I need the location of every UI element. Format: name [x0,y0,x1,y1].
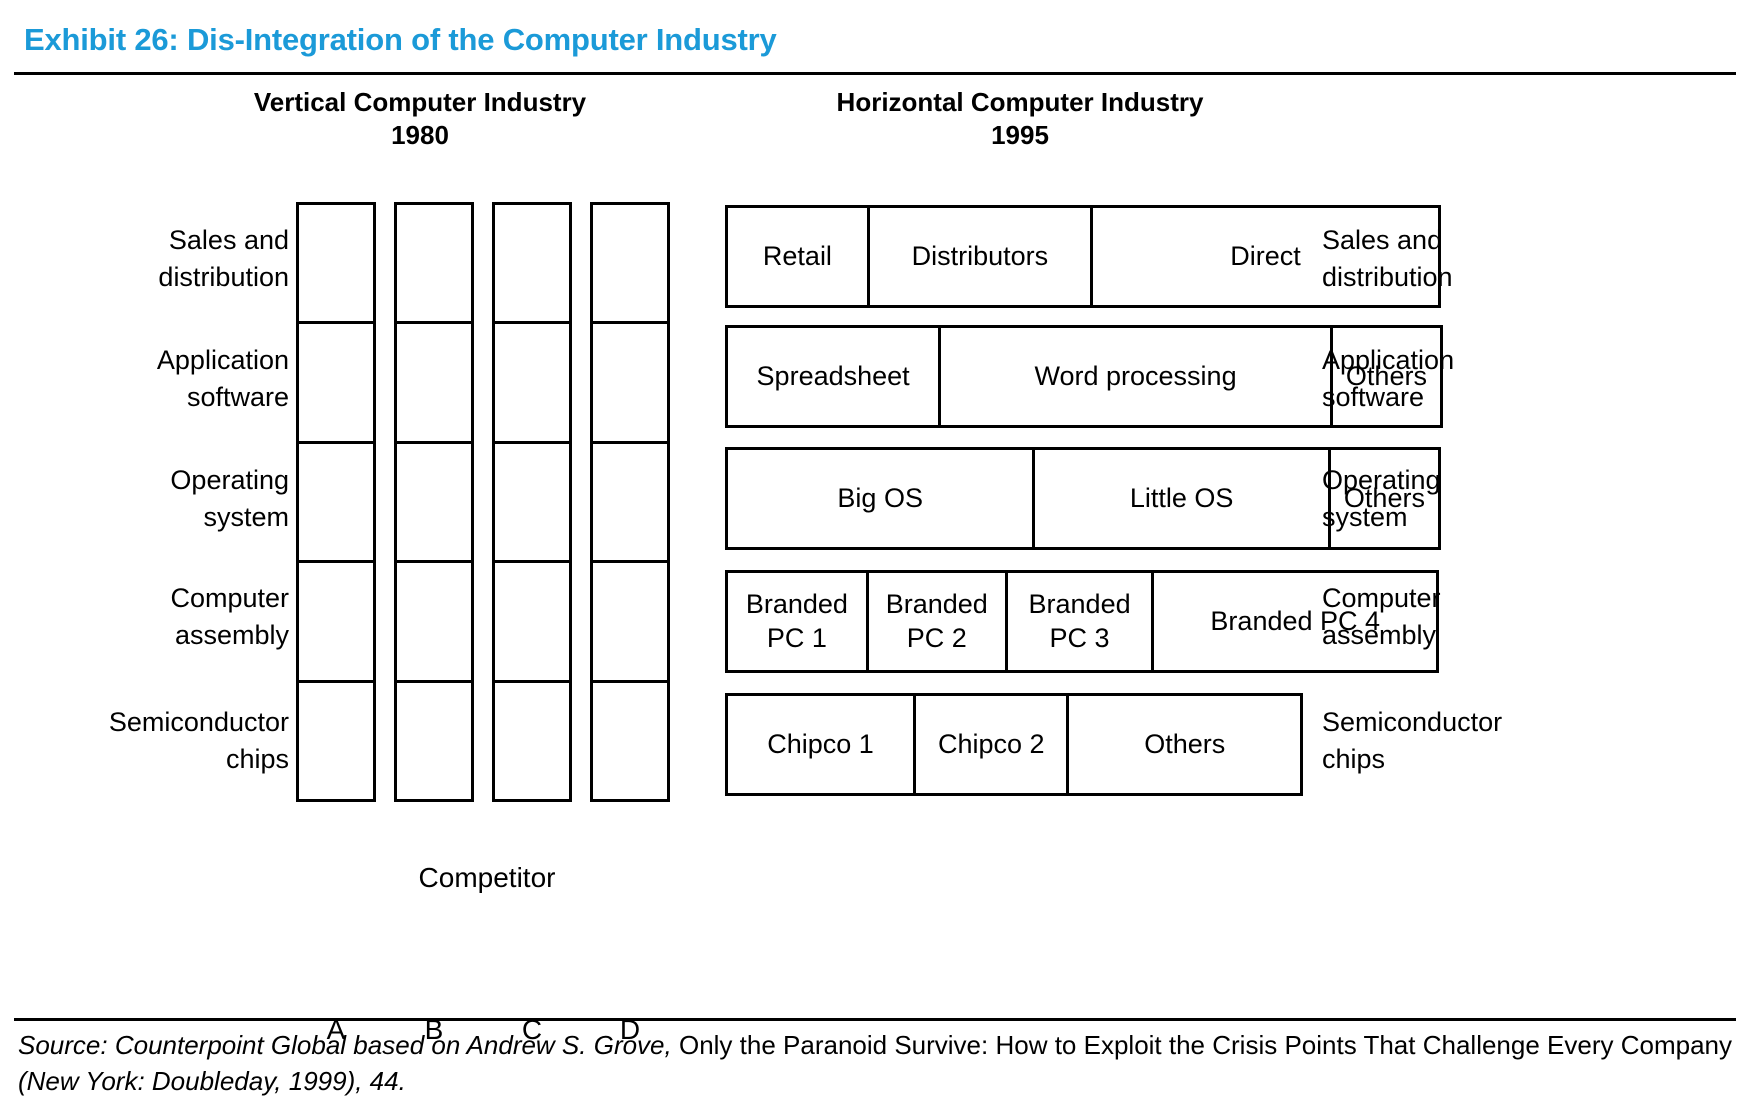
label-line-2: distribution [0,259,289,296]
right-layer-label-sales-and-distribution: Sales and distribution [1322,222,1722,297]
vertical-heading-year: 1980 [130,119,710,152]
label-line-1: Semiconductor [1322,704,1722,741]
vertical-cell [590,441,670,560]
horizontal-cell-word-processing: Word processing [941,328,1333,425]
competitor-column-d [590,202,670,802]
label-line-1: Semiconductor [0,704,289,741]
label-line-2: assembly [1322,617,1722,654]
vertical-cell [296,321,376,440]
label-line-2: chips [1322,741,1722,778]
title-divider [14,72,1736,75]
source-book-title: Only the Paranoid Survive: How to Exploi… [672,1030,1732,1060]
label-line-1: Sales and [0,222,289,259]
horizontal-cell-branded-pc-2: Branded PC 2 [869,573,1008,670]
vertical-cell [492,321,572,440]
source-attribution: Source: Counterpoint Global based on And… [18,1030,672,1060]
competitor-column-b [394,202,474,802]
horizontal-cell-distributors: Distributors [870,208,1093,305]
left-layer-label-semiconductor-chips: Semiconductor chips [0,704,289,779]
label-line-1: Operating [1322,462,1722,499]
horizontal-cell-retail: Retail [728,208,870,305]
vertical-cell [590,560,670,679]
left-layer-label-operating-system: Operating system [0,462,289,537]
vertical-cell [394,680,474,802]
left-layer-label-computer-assembly: Computer assembly [0,580,289,655]
vertical-cell [394,202,474,321]
label-line-2: system [1322,499,1722,536]
label-line-2: software [0,379,289,416]
vertical-cell [590,202,670,321]
label-line-2: assembly [0,617,289,654]
source-note: Source: Counterpoint Global based on And… [18,1028,1732,1100]
vertical-heading-line1: Vertical Computer Industry [130,86,710,119]
source-publication: (New York: Doubleday, 1999), 44. [18,1066,406,1096]
right-layer-label-operating-system: Operating system [1322,462,1722,537]
vertical-cell [394,560,474,679]
horizontal-panel-heading: Horizontal Computer Industry 1995 [700,86,1340,153]
label-line-2: distribution [1322,259,1722,296]
source-divider [14,1018,1736,1021]
horizontal-cell-little-os: Little OS [1035,450,1330,547]
vertical-cell [394,321,474,440]
competitor-column-a [296,202,376,802]
right-layer-label-semiconductor-chips: Semiconductor chips [1322,704,1722,779]
horizontal-row-semiconductor-chips: Chipco 1 Chipco 2 Others [725,693,1303,796]
right-layer-label-computer-assembly: Computer assembly [1322,580,1722,655]
horizontal-cell-branded-pc-1: Branded PC 1 [728,573,869,670]
vertical-cell [492,202,572,321]
horizontal-heading-line1: Horizontal Computer Industry [700,86,1340,119]
label-line-1: Application [1322,342,1722,379]
left-layer-label-application-software: Application software [0,342,289,417]
horizontal-cell-others: Others [1069,696,1300,793]
label-line-1: Sales and [1322,222,1722,259]
vertical-cell [492,441,572,560]
vertical-panel-heading: Vertical Computer Industry 1980 [130,86,710,153]
horizontal-heading-year: 1995 [700,119,1340,152]
label-line-1: Application [0,342,289,379]
page-title: Exhibit 26: Dis-Integration of the Compu… [24,22,777,58]
vertical-cell [492,680,572,802]
label-line-1: Operating [0,462,289,499]
vertical-industry-diagram: A B C D [296,202,678,802]
horizontal-cell-big-os: Big OS [728,450,1035,547]
label-line-1: Computer [1322,580,1722,617]
horizontal-cell-spreadsheet: Spreadsheet [728,328,941,425]
vertical-cell [590,321,670,440]
vertical-cell [296,560,376,679]
horizontal-cell-branded-pc-3: Branded PC 3 [1008,573,1155,670]
left-layer-label-sales-and-distribution: Sales and distribution [0,222,289,297]
vertical-cell [394,441,474,560]
vertical-cell [296,202,376,321]
competitor-axis-caption: Competitor [296,862,678,894]
label-line-2: chips [0,741,289,778]
right-layer-label-application-software: Application software [1322,342,1722,417]
horizontal-cell-chipco-2: Chipco 2 [916,696,1069,793]
label-line-2: software [1322,379,1722,416]
vertical-cell [492,560,572,679]
competitor-column-c [492,202,572,802]
label-line-1: Computer [0,580,289,617]
horizontal-cell-chipco-1: Chipco 1 [728,696,916,793]
vertical-cell [296,680,376,802]
label-line-2: system [0,499,289,536]
vertical-cell [590,680,670,802]
vertical-cell [296,441,376,560]
